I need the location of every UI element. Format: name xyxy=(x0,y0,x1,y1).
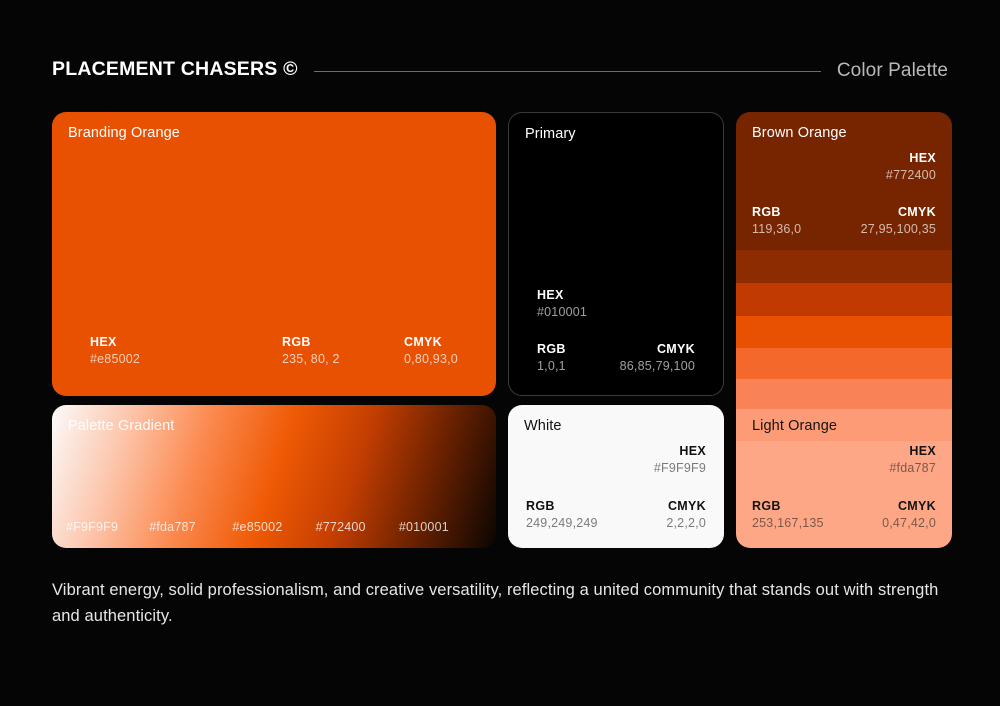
swatch-card-primary[interactable]: Primary HEX #010001 RGB 1,0,1 CMYK 86,85… xyxy=(508,112,724,396)
swatch-meta: HEX #e85002 RGB 235, 80, 2 CMYK 0,80,93,… xyxy=(52,334,496,368)
swatch-title: Palette Gradient xyxy=(68,418,174,434)
cmyk-label: CMYK xyxy=(404,334,458,351)
swatch-title: Branding Orange xyxy=(68,125,180,141)
meta-group-cmyk: CMYK 2,2,2,0 xyxy=(666,498,706,532)
rgb-label: RGB xyxy=(537,341,566,358)
header-divider xyxy=(314,71,821,72)
gradient-stop-hex: #010001 xyxy=(399,520,482,534)
meta-group-cmyk: CMYK 86,85,79,100 xyxy=(620,341,695,375)
brand-title: PLACEMENT CHASERS © xyxy=(52,60,298,80)
hex-label: HEX xyxy=(654,443,706,460)
scale-band xyxy=(736,441,952,548)
scale-band xyxy=(736,250,952,283)
rgb-label: RGB xyxy=(282,334,404,351)
rgb-value: 1,0,1 xyxy=(537,358,566,375)
meta-group-hex: HEX #F9F9F9 xyxy=(654,443,706,477)
hex-label: HEX xyxy=(90,334,282,351)
hex-value: #010001 xyxy=(537,304,587,321)
scale-band xyxy=(736,316,952,348)
scale-band xyxy=(736,283,952,316)
hex-label: HEX xyxy=(537,287,587,304)
gradient-stop-hex: #F9F9F9 xyxy=(66,520,149,534)
swatch-card-palette-gradient[interactable]: Palette Gradient #F9F9F9 #fda787 #e85002… xyxy=(52,405,496,548)
cmyk-label: CMYK xyxy=(620,341,695,358)
page-title: Color Palette xyxy=(837,61,948,80)
gradient-stop-hex: #772400 xyxy=(316,520,399,534)
scale-band xyxy=(736,409,952,441)
cmyk-value: 2,2,2,0 xyxy=(666,515,706,532)
gradient-stop-hex: #e85002 xyxy=(232,520,315,534)
meta-group-rgb: RGB 1,0,1 xyxy=(537,341,566,375)
meta-group-rgb: RGB 235, 80, 2 xyxy=(282,334,404,368)
color-palette-page: PLACEMENT CHASERS © Color Palette Brandi… xyxy=(0,0,1000,706)
cmyk-label: CMYK xyxy=(666,498,706,515)
hex-value: #e85002 xyxy=(90,351,282,368)
meta-group-hex: HEX #010001 xyxy=(537,287,587,321)
page-header: PLACEMENT CHASERS © Color Palette xyxy=(52,52,948,88)
scale-band xyxy=(736,348,952,379)
cmyk-value: 86,85,79,100 xyxy=(620,358,695,375)
rgb-value: 249,249,249 xyxy=(526,515,598,532)
meta-group-cmyk: CMYK 0,80,93,0 xyxy=(404,334,458,368)
cmyk-value: 0,80,93,0 xyxy=(404,351,458,368)
scale-band xyxy=(736,112,952,250)
rgb-label: RGB xyxy=(526,498,598,515)
meta-group-hex: HEX #e85002 xyxy=(90,334,282,368)
orange-scale-bands xyxy=(736,112,952,548)
meta-group-rgb: RGB 249,249,249 xyxy=(526,498,598,532)
gradient-stop-hex: #fda787 xyxy=(149,520,232,534)
swatch-card-orange-scale[interactable]: Brown Orange HEX #772400 RGB 119,36,0 CM… xyxy=(736,112,952,548)
swatch-meta: RGB 249,249,249 CMYK 2,2,2,0 xyxy=(508,498,724,532)
swatch-title: Primary xyxy=(525,126,576,142)
gradient-stop-list: #F9F9F9 #fda787 #e85002 #772400 #010001 xyxy=(52,520,496,534)
rgb-value: 235, 80, 2 xyxy=(282,351,404,368)
swatch-card-white[interactable]: White HEX #F9F9F9 RGB 249,249,249 CMYK 2… xyxy=(508,405,724,548)
swatch-title: White xyxy=(524,418,562,434)
swatch-card-branding-orange[interactable]: Branding Orange HEX #e85002 RGB 235, 80,… xyxy=(52,112,496,396)
swatch-meta: RGB 1,0,1 CMYK 86,85,79,100 xyxy=(509,341,723,375)
hex-value: #F9F9F9 xyxy=(654,460,706,477)
scale-band xyxy=(736,379,952,409)
palette-description: Vibrant energy, solid professionalism, a… xyxy=(52,578,952,629)
